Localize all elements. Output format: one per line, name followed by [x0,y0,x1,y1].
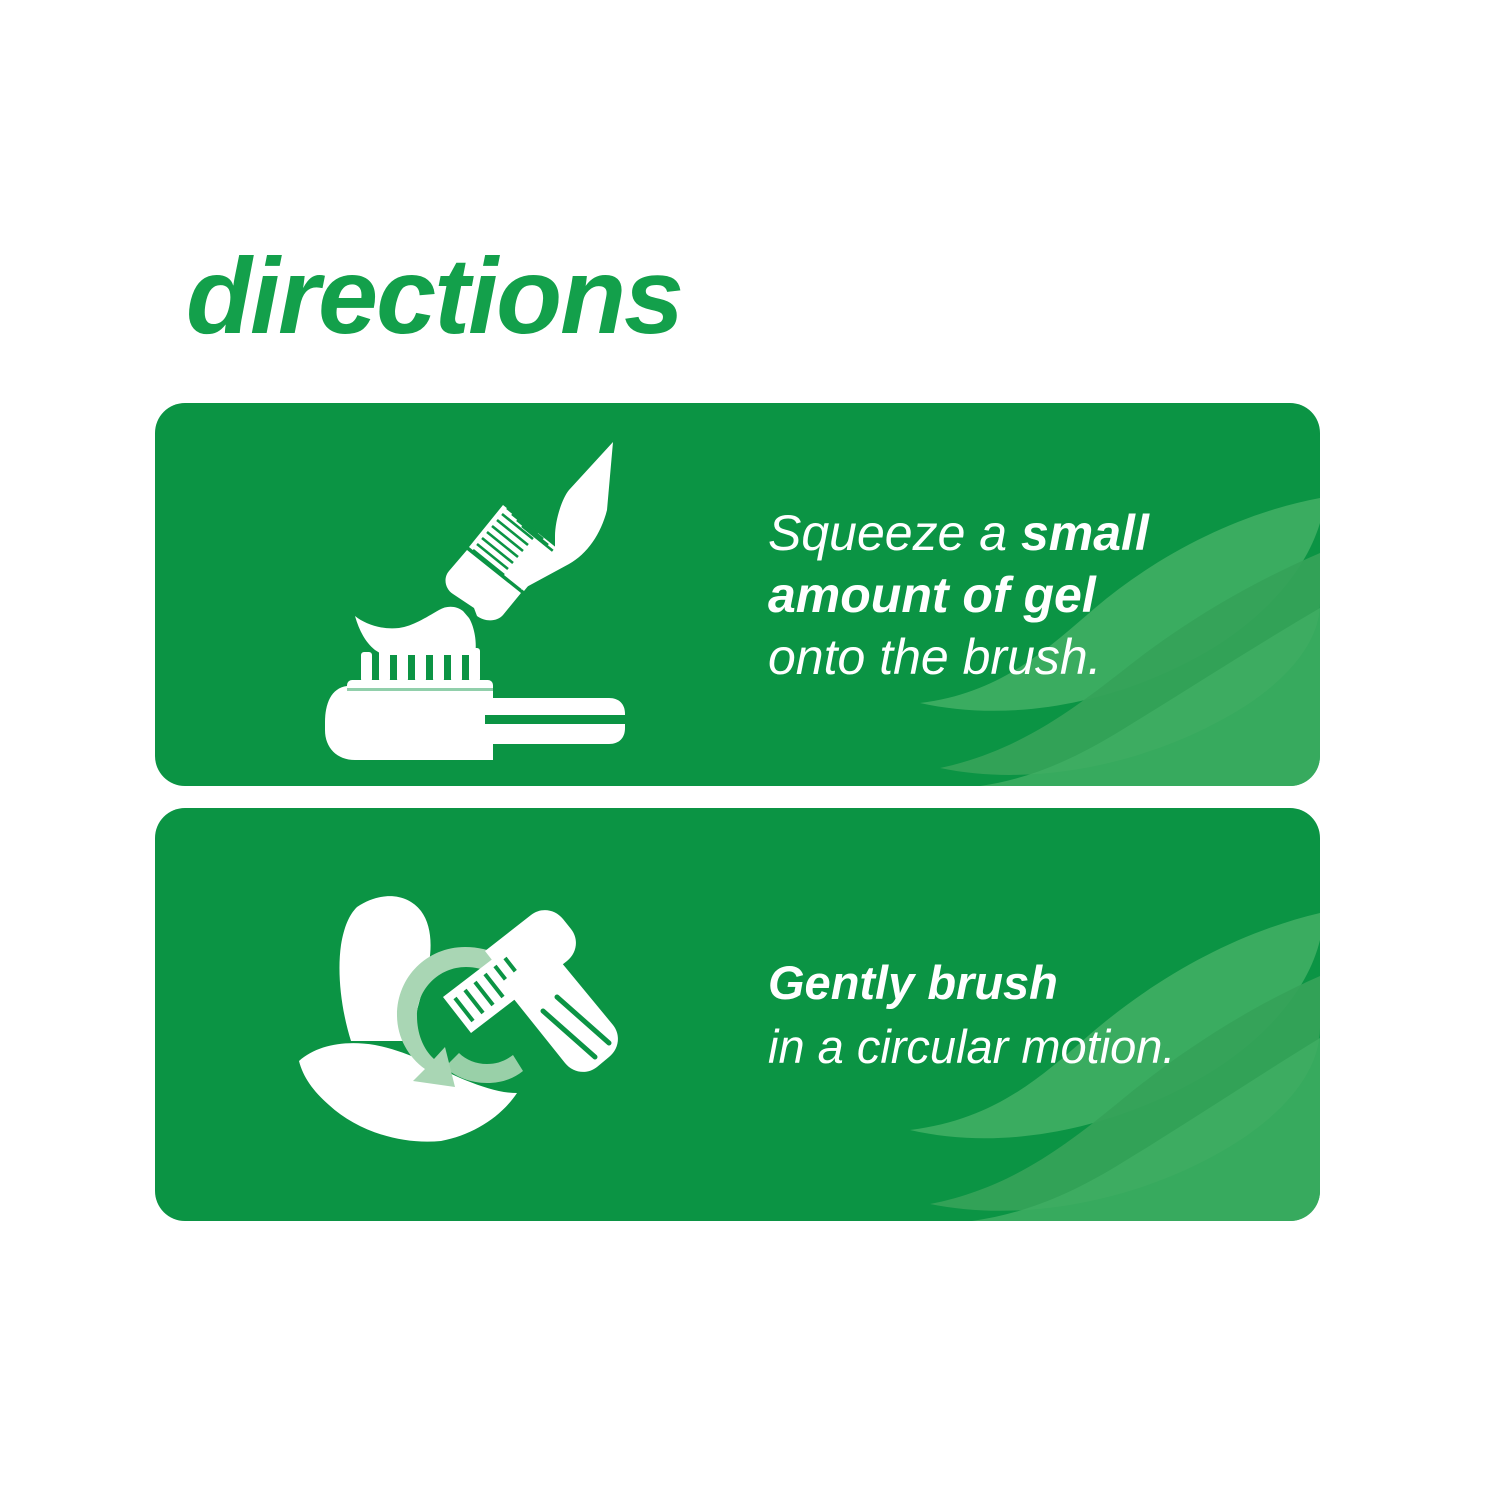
step-1-text-block: Squeeze a small amount of gel onto the b… [768,403,1280,786]
step-1-line-1-seg-2: small [1021,505,1149,561]
step-1-illustration [155,403,785,786]
step-2-line-2: in a circular motion. [768,1015,1280,1079]
page-title: directions [186,236,682,356]
brush-circular-motion-on-teeth-icon [295,885,635,1145]
direction-step-card-2: Gently brush in a circular motion. [155,808,1320,1221]
toothpaste-tube-on-brush-icon [325,430,625,760]
step-2-line-1: Gently brush [768,951,1280,1015]
step-1-line-1: Squeeze a small [768,502,1280,564]
step-1-line-3: onto the brush. [768,626,1280,688]
step-1-line-2: amount of gel [768,564,1280,626]
step-2-illustration [155,808,775,1221]
step-1-line-1-seg-1: Squeeze a [768,505,1021,561]
direction-step-card-1: Squeeze a small amount of gel onto the b… [155,403,1320,786]
directions-panel: directions [0,0,1500,1500]
step-2-text-block: Gently brush in a circular motion. [768,808,1280,1221]
